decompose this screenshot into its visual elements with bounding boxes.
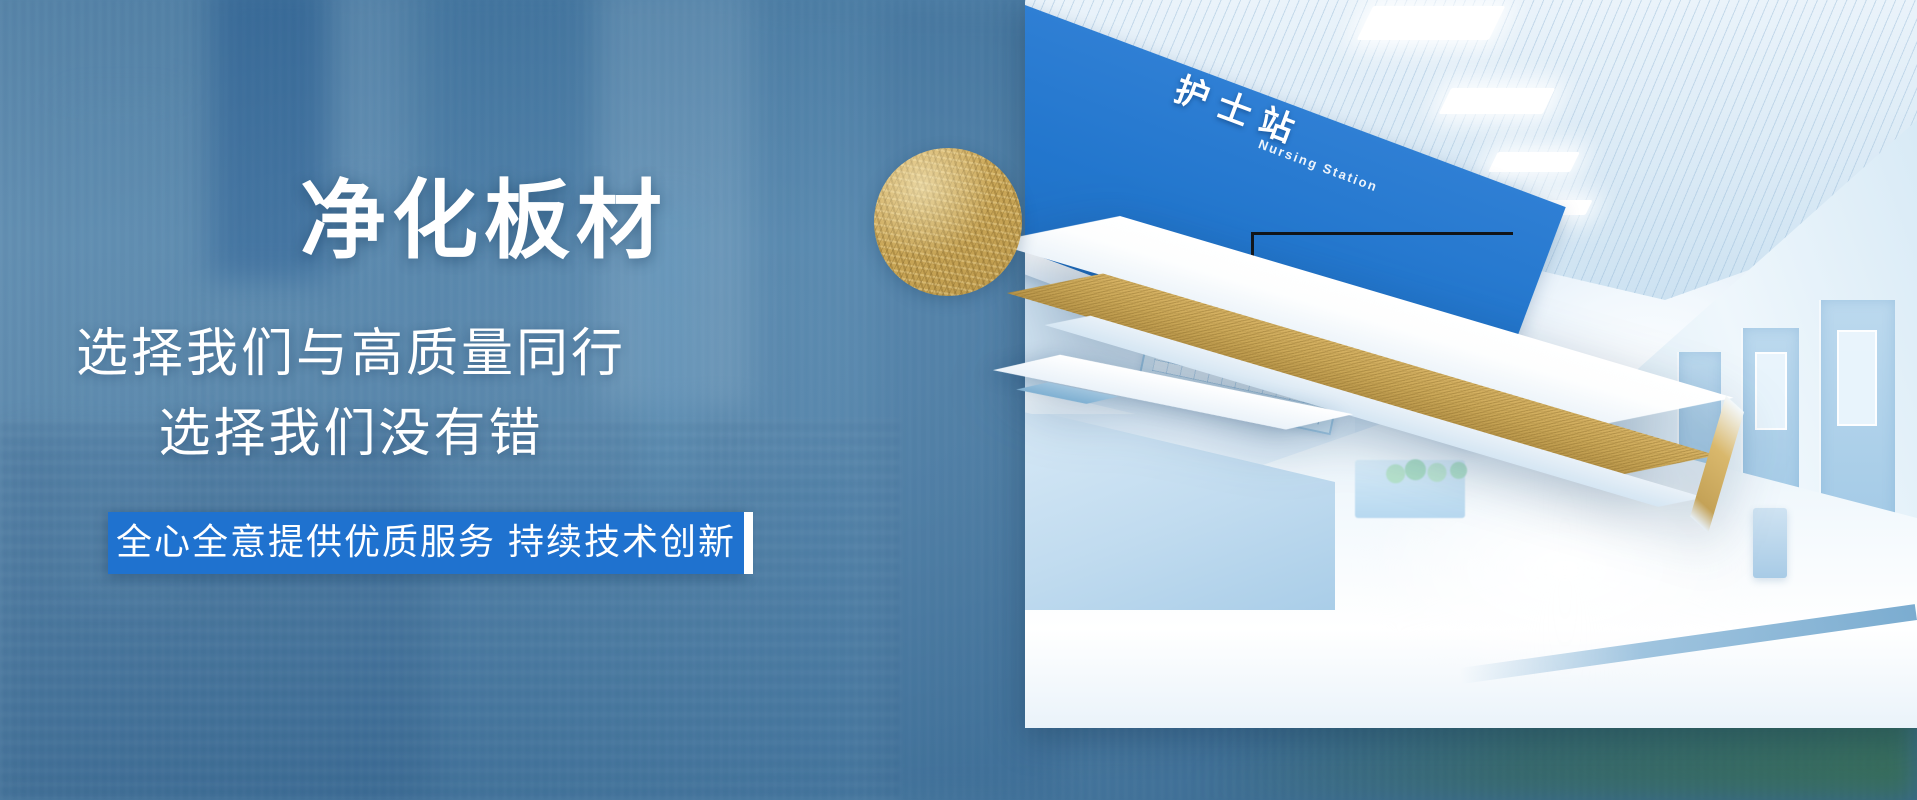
banner-tagline-wrap: 全心全意提供优质服务 持续技术创新 [108,512,753,574]
panel-end-cap [1690,395,1744,532]
promo-banner: 净化板材 选择我们与高质量同行 选择我们没有错 全心全意提供优质服务 持续技术创… [0,0,1917,800]
banner-subline-2: 选择我们没有错 [0,408,830,460]
ceiling-light [1488,152,1580,172]
banner-tagline: 全心全意提供优质服务 持续技术创新 [108,512,746,574]
door-window [1837,330,1877,426]
ceiling-light [1439,88,1556,114]
banner-headline: 净化板材 [300,178,668,264]
rockwool-detail-circle [874,148,1022,296]
ceiling-light [1357,6,1506,40]
tagline-end-cap [744,512,753,574]
banner-text-column: 净化板材 选择我们与高质量同行 选择我们没有错 全心全意提供优质服务 持续技术创… [0,0,830,800]
callout-line-horizontal [1251,232,1513,235]
banner-subline-1: 选择我们与高质量同行 [0,328,830,380]
